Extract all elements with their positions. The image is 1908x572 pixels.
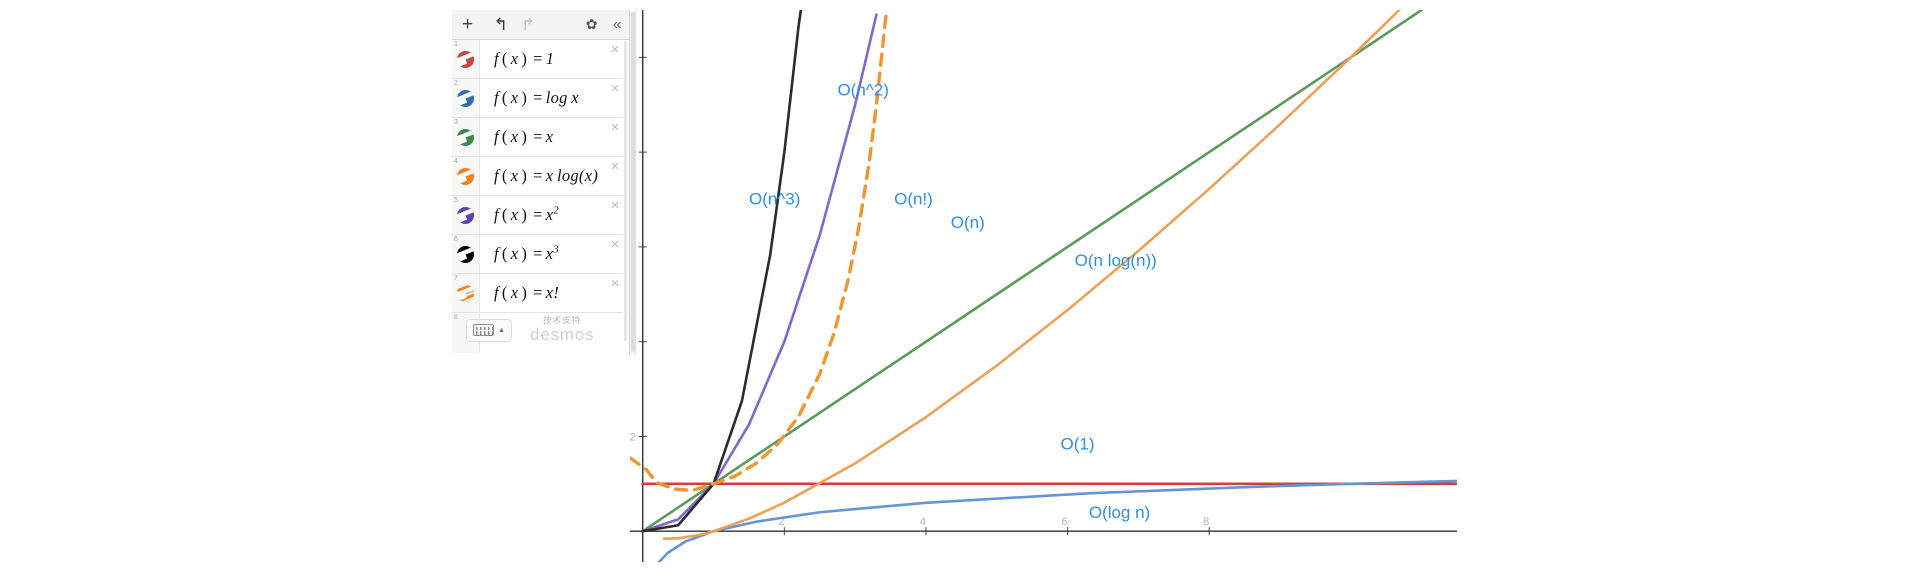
sidebar-scrollbar-thumb[interactable]	[624, 41, 627, 341]
screenshot-root: + ↰ ↱ ✿ « 1f(x)=1×2f(x)=log x×3f(x)=x×4f…	[0, 0, 1908, 572]
redo-icon[interactable]: ↱	[514, 10, 541, 40]
axes	[630, 10, 1457, 562]
expression-index: 3	[454, 119, 458, 126]
expression-color-gutter[interactable]: 3	[452, 118, 480, 156]
branding-wordmark: desmos	[530, 326, 594, 343]
expression-color-gutter[interactable]: 4	[452, 157, 480, 195]
expression-row[interactable]: 4f(x)=x log(x)×	[452, 157, 629, 196]
curve-label: O(n!)	[894, 189, 933, 208]
curve-label: O(n log(n))	[1075, 251, 1157, 270]
expression-row[interactable]: 2f(x)=log x×	[452, 79, 629, 118]
expression-input[interactable]: f(x)=1	[480, 49, 604, 69]
color-swatch-icon[interactable]	[457, 285, 474, 302]
expression-color-gutter[interactable]: 6	[452, 235, 480, 273]
color-swatch-icon[interactable]	[457, 207, 474, 224]
curve-label: O(log n)	[1089, 503, 1150, 522]
keyboard-toggle-button[interactable]: ▲	[466, 319, 512, 342]
curve-label: O(1)	[1060, 435, 1094, 454]
curves	[630, 10, 1457, 562]
curve-label: O(n^2)	[837, 80, 888, 99]
gear-icon[interactable]: ✿	[578, 10, 605, 40]
color-swatch-icon[interactable]	[457, 168, 474, 185]
calculator-toolbar: + ↰ ↱ ✿ «	[452, 10, 629, 40]
caret-up-icon: ▲	[498, 327, 505, 334]
color-swatch-icon[interactable]	[457, 51, 474, 68]
curve-label: O(n)	[951, 213, 985, 232]
x-tick-label: 6	[1062, 516, 1068, 528]
keyboard-icon	[473, 324, 494, 336]
curve-label: O(n^3)	[749, 189, 800, 208]
graph-paper[interactable]: 2468246810 O(1)O(log n)O(n)O(n log(n))O(…	[630, 10, 1457, 562]
desmos-calculator: + ↰ ↱ ✿ « 1f(x)=1×2f(x)=log x×3f(x)=x×4f…	[452, 10, 1457, 562]
expression-row[interactable]: 6f(x)=x3×	[452, 235, 629, 274]
curve-o-n-log-n-	[664, 10, 1422, 539]
expression-index: 2	[454, 80, 458, 87]
expression-input[interactable]: f(x)=x3	[480, 244, 604, 264]
expression-row[interactable]: 1f(x)=1×	[452, 40, 629, 79]
expression-color-gutter[interactable]: 2	[452, 79, 480, 117]
graph-svg: 2468246810 O(1)O(log n)O(n)O(n log(n))O(…	[630, 10, 1457, 562]
expression-input[interactable]: f(x)=x log(x)	[480, 166, 604, 186]
expression-input[interactable]: f(x)=x	[480, 127, 604, 147]
axis-ticks: 2468246810	[630, 52, 1209, 535]
expression-color-gutter[interactable]: 5	[452, 196, 480, 234]
curve-o-n-3-	[643, 10, 804, 531]
undo-icon[interactable]: ↰	[487, 10, 514, 40]
color-swatch-icon[interactable]	[457, 246, 474, 263]
branding-superscript: 技术支持	[530, 317, 594, 326]
graph-scrollbar[interactable]	[630, 10, 636, 355]
keyboard-bar: ▲ 技术支持 desmos	[452, 305, 630, 355]
add-expression-button[interactable]: +	[452, 10, 483, 40]
expression-index: 4	[454, 158, 458, 165]
expression-index: 1	[454, 41, 458, 48]
graph-scrollbar-thumb[interactable]	[631, 12, 635, 352]
curve-o-log-n-	[651, 481, 1457, 562]
desmos-branding: 技术支持 desmos	[530, 317, 594, 344]
expression-index: 6	[454, 236, 458, 243]
y-tick-label: 2	[630, 431, 636, 443]
color-swatch-icon[interactable]	[457, 129, 474, 146]
expression-input[interactable]: f(x)=x!	[480, 283, 604, 303]
expression-input[interactable]: f(x)=x2	[480, 205, 604, 225]
expression-input[interactable]: f(x)=log x	[480, 88, 604, 108]
curve-o-n-	[643, 10, 1422, 531]
expression-index: 7	[454, 275, 458, 282]
collapse-chevron-icon[interactable]: «	[605, 10, 629, 40]
expression-color-gutter[interactable]: 1	[452, 40, 480, 78]
expression-sidebar: + ↰ ↱ ✿ « 1f(x)=1×2f(x)=log x×3f(x)=x×4f…	[452, 10, 630, 355]
color-swatch-icon[interactable]	[457, 90, 474, 107]
expression-row[interactable]: 3f(x)=x×	[452, 118, 629, 157]
x-tick-label: 4	[920, 516, 926, 528]
expression-index: 5	[454, 197, 458, 204]
curve-labels: O(1)O(log n)O(n)O(n log(n))O(n^2)O(n^3)O…	[749, 80, 1157, 522]
expression-row[interactable]: 5f(x)=x2×	[452, 196, 629, 235]
x-tick-label: 8	[1203, 516, 1209, 528]
